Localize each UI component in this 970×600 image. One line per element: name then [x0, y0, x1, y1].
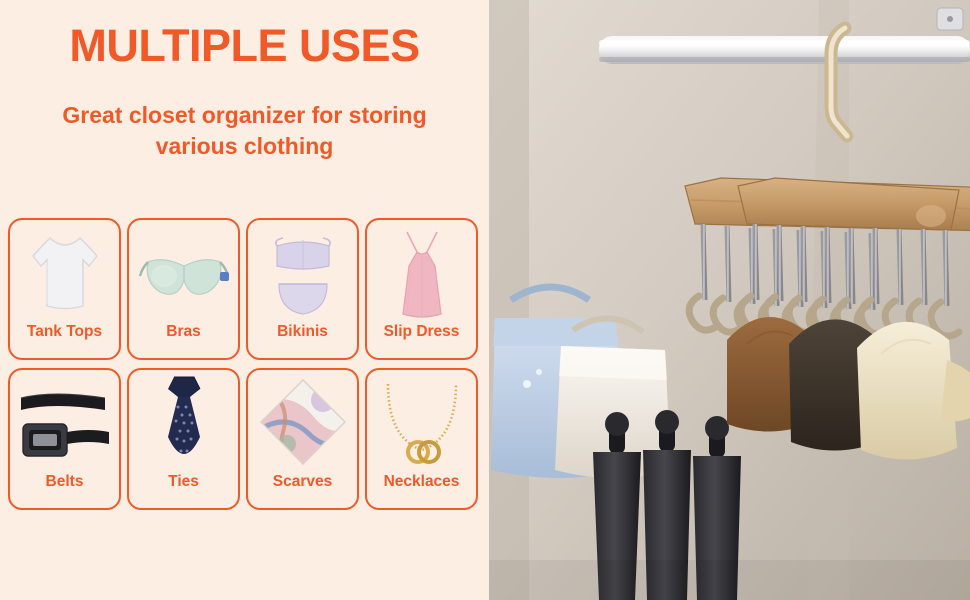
- use-case-grid: Tank Tops Bras: [8, 218, 481, 510]
- use-case-label: Bikinis: [277, 324, 328, 340]
- use-case-label: Necklaces: [384, 474, 460, 490]
- use-case-label: Scarves: [273, 474, 332, 490]
- product-photo: [489, 0, 970, 600]
- closet-scene-illustration: [489, 0, 970, 600]
- scarf-icon: [246, 370, 359, 474]
- use-case-card: Bikinis: [246, 218, 359, 360]
- bikini-icon: [246, 220, 359, 324]
- use-case-card: Belts: [8, 368, 121, 510]
- use-case-label: Belts: [46, 474, 84, 490]
- bra-icon: [127, 220, 240, 324]
- use-case-card: Bras: [127, 218, 240, 360]
- belt-icon: [8, 370, 121, 474]
- use-case-label: Bras: [166, 324, 200, 340]
- use-case-label: Tank Tops: [27, 324, 102, 340]
- use-case-card: Tank Tops: [8, 218, 121, 360]
- page-title: MULTIPLE USES: [0, 22, 489, 69]
- necklace-icon: [365, 370, 478, 474]
- use-case-card: Necklaces: [365, 368, 478, 510]
- page-subtitle: Great closet organizer for storing vario…: [0, 100, 489, 162]
- tank-top-icon: [8, 220, 121, 324]
- slip-dress-icon: [365, 220, 478, 324]
- use-case-card: Scarves: [246, 368, 359, 510]
- use-case-card: Ties: [127, 368, 240, 510]
- tie-icon: [127, 370, 240, 474]
- left-info-panel: MULTIPLE USES Great closet organizer for…: [0, 0, 489, 600]
- use-case-label: Ties: [168, 474, 199, 490]
- use-case-label: Slip Dress: [384, 324, 460, 340]
- use-case-card: Slip Dress: [365, 218, 478, 360]
- promo-image: MULTIPLE USES Great closet organizer for…: [0, 0, 970, 600]
